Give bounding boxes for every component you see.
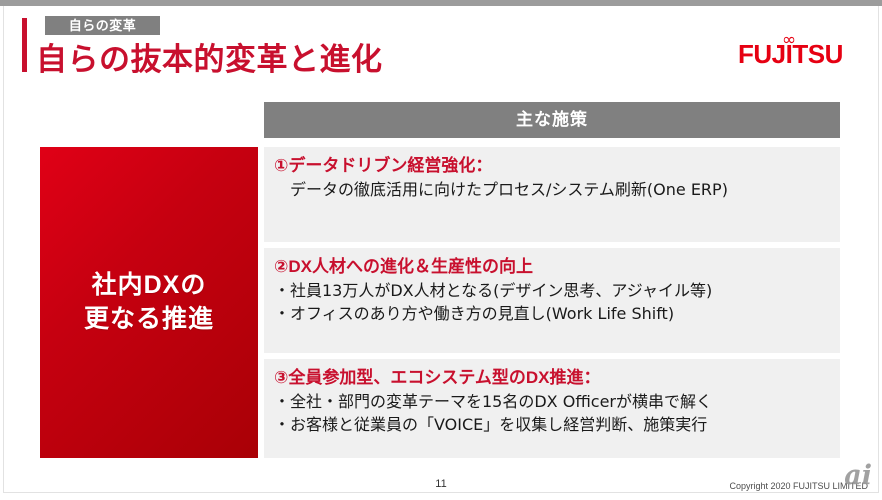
measures-list: ①データドリブン経営強化： データの徹底活用に向けたプロセス/システム刷新(On… (264, 147, 840, 464)
left-category-line-1: 社内DXの (84, 269, 214, 303)
section-tag-badge: 自らの変革 (45, 16, 160, 35)
title-accent-bar (22, 18, 27, 72)
row-body-line: ・お客様と従業員の「VOICE」を収集し経営判断、施策実行 (274, 413, 830, 436)
left-category-panel: 社内DXの 更なる推進 (40, 147, 258, 458)
ai-watermark-logo: ai (844, 462, 872, 489)
fujitsu-logo: ∞ FUJITSU (738, 36, 856, 70)
left-category-label: 社内DXの 更なる推進 (84, 269, 214, 337)
table-row: ②DX人材への進化＆生産性の向上 ・社員13万人がDX人材となる(デザイン思考、… (264, 248, 840, 353)
row-heading: ②DX人材への進化＆生産性の向上 (274, 256, 830, 279)
row-body-line: データの徹底活用に向けたプロセス/システム刷新(One ERP) (274, 178, 830, 201)
row-heading: ①データドリブン経営強化： (274, 155, 830, 178)
row-body-line: ・社員13万人がDX人材となる(デザイン思考、アジャイル等) (274, 279, 830, 302)
row-heading: ③全員参加型、エコシステム型のDX推進： (274, 367, 830, 390)
fujitsu-wordmark: FUJITSU (738, 39, 843, 70)
left-category-line-2: 更なる推進 (84, 303, 214, 337)
table-row: ③全員参加型、エコシステム型のDX推進： ・全社・部門の変革テーマを15名のDX… (264, 359, 840, 458)
table-row: ①データドリブン経営強化： データの徹底活用に向けたプロセス/システム刷新(On… (264, 147, 840, 242)
page-title: 自らの抜本的変革と進化 (36, 34, 383, 79)
row-body-line: ・全社・部門の変革テーマを15名のDX Officerが横串で解く (274, 390, 830, 413)
row-body-line: ・オフィスのあり方や働き方の見直し(Work Life Shift) (274, 302, 830, 325)
column-header-main-measures: 主な施策 (264, 102, 840, 138)
slide-canvas: 自らの変革 自らの抜本的変革と進化 ∞ FUJITSU 主な施策 社内DXの 更… (0, 0, 882, 500)
